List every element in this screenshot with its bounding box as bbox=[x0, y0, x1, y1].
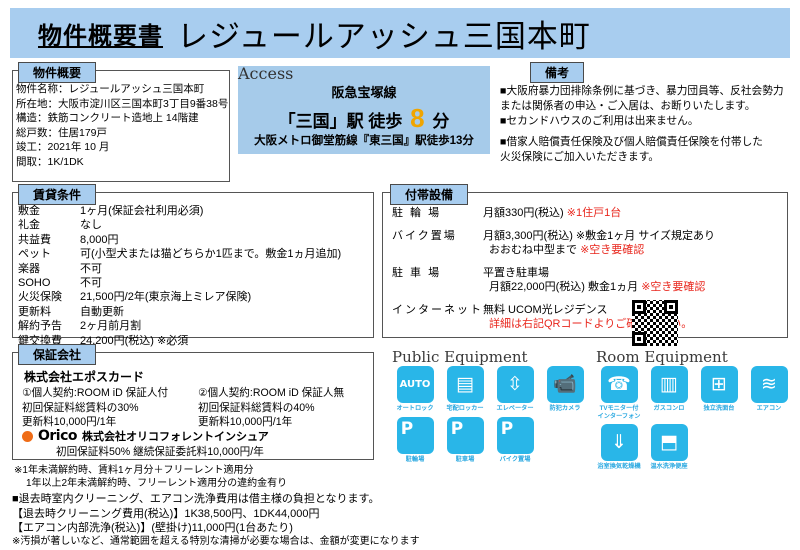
washstand-icon: ⊞ bbox=[701, 366, 738, 403]
facility-value: 無料 UCOM光レジデンス 詳細は右記QRコードよりご確認下さい。 bbox=[483, 303, 715, 340]
security-camera-icon-label: 防犯カメラ bbox=[550, 405, 581, 413]
facility-text: 無料 UCOM光レジデンス bbox=[483, 304, 607, 316]
access-minutes: 8 bbox=[407, 103, 427, 133]
air-conditioner-icon-glyph: ≋ bbox=[761, 375, 777, 394]
bicycle-parking-icon: P bbox=[397, 417, 434, 454]
access-minutes-unit: 分 bbox=[432, 112, 449, 131]
room-equipment-grid: ☎TVモニター付インターフォン▥ガスコンロ⊞独立洗面台≋エアコン⇓浴室換気乾燥機… bbox=[594, 366, 794, 475]
bike-parking-icon-cell: Pバイク置場 bbox=[490, 417, 540, 464]
rent-condition-key: 敷金 bbox=[18, 204, 80, 218]
auto-lock-icon: AUTO bbox=[397, 366, 434, 403]
footnote-2: 1年以上2年未満解約時、フリーレント適用分の違約金有り bbox=[26, 477, 287, 491]
orico-company-name: 株式会社オリコフォレントインシュア bbox=[82, 428, 269, 444]
public-equipment-grid: AUTOオートロック▤宅配ロッカー⇳エレベーター📹防犯カメラP駐輪場P駐車場Pバ… bbox=[390, 366, 590, 467]
rent-condition-row: ペット可(小型犬または猫どちらか1匹まで。敷金1ヵ月追加) bbox=[18, 247, 341, 261]
room-equipment-title: Room Equipment bbox=[596, 348, 728, 366]
header-label: 物件概要書 bbox=[38, 16, 163, 51]
facility-row: バイク置場月額3,300円(税込) ※敷金1ヶ月 サイズ規定あり おおむね中型ま… bbox=[392, 229, 715, 266]
air-conditioner-icon-label: エアコン bbox=[757, 405, 782, 413]
tv-intercom-icon: ☎ bbox=[601, 366, 638, 403]
elevator-icon: ⇳ bbox=[497, 366, 534, 403]
elevator-icon-label: エレベーター bbox=[496, 405, 533, 413]
rent-condition-value: 可(小型犬または猫どちらか1匹まで。敷金1ヵ月追加) bbox=[80, 247, 341, 261]
tv-intercom-icon-glyph: ☎ bbox=[607, 375, 631, 394]
rent-condition-value: なし bbox=[80, 218, 341, 232]
bike-parking-icon-label: バイク置場 bbox=[500, 456, 531, 464]
gas-stove-icon-cell: ▥ガスコンロ bbox=[644, 366, 694, 420]
rent-condition-key: ペット bbox=[18, 247, 80, 261]
auto-lock-icon-label: オートロック bbox=[396, 405, 433, 413]
rent-condition-row: 解約予告2ヶ月前月割 bbox=[18, 319, 341, 333]
bicycle-parking-icon-cell: P駐輪場 bbox=[390, 417, 440, 464]
facility-note-red: ※空き要確認 bbox=[580, 244, 644, 256]
guarantor-plan-2: ②個人契約:ROOM iD 保証人無初回保証料総賃料の40%更新料10,000円… bbox=[198, 386, 344, 430]
guarantor-plan-line: 初回保証料総賃料の30% bbox=[22, 401, 168, 416]
washlet-icon-label: 温水洗浄便座 bbox=[650, 463, 687, 471]
air-conditioner-icon: ≋ bbox=[751, 366, 788, 403]
page-title: レジュールアッシュ三国本町 bbox=[177, 11, 591, 56]
facility-value: 月額3,300円(税込) ※敷金1ヶ月 サイズ規定あり おおむね中型まで ※空き… bbox=[483, 229, 715, 266]
guarantor-plan-line: 初回保証料総賃料の40% bbox=[198, 401, 344, 416]
access-label: Access bbox=[238, 64, 293, 83]
rent-condition-value: 不可 bbox=[80, 262, 341, 276]
rent-conditions-table: 敷金1ヶ月(保証会社利用必須)礼金なし共益費8,000円ペット可(小型犬または猫… bbox=[18, 204, 341, 348]
cleaning-note-1: ■退去時室内クリーニング、エアコン洗浄費用は借主様の負担となります。 bbox=[12, 492, 379, 507]
rent-condition-value: 2ヶ月前月割 bbox=[80, 319, 341, 333]
property-summary-lines: 物件名称：レジュールアッシュ三国本町所在地：大阪市淀川区三国本町3丁目9番38号… bbox=[16, 82, 228, 170]
cleaning-note-3: 【エアコン内部洗浄(税込)】(壁掛け)11,000円(1台あたり) bbox=[12, 521, 293, 536]
rent-condition-row: 共益費8,000円 bbox=[18, 233, 341, 247]
gas-stove-icon: ▥ bbox=[651, 366, 688, 403]
auto-lock-icon-glyph: AUTO bbox=[400, 379, 431, 390]
orico-wordmark: Orico bbox=[38, 428, 77, 444]
elevator-icon-cell: ⇳エレベーター bbox=[490, 366, 540, 413]
rent-condition-key: 共益費 bbox=[18, 233, 80, 247]
access-line-name: 阪急宝塚線 bbox=[238, 82, 490, 101]
gas-stove-icon-label: ガスコンロ bbox=[654, 405, 685, 413]
rent-condition-key: 解約予告 bbox=[18, 319, 80, 333]
facility-key: バイク置場 bbox=[392, 229, 483, 266]
rent-condition-row: 敷金1ヶ月(保証会社利用必須) bbox=[18, 204, 341, 218]
facility-row: 駐 車 場平置き駐車場 月額22,000円(税込) 敷金1ヵ月 ※空き要確認 bbox=[392, 266, 715, 303]
facility-key: 駐 輪 場 bbox=[392, 206, 483, 229]
property-summary-line: 間取：1K/1DK bbox=[16, 155, 228, 170]
security-camera-icon: 📹 bbox=[547, 366, 584, 403]
rent-condition-row: 火災保険21,500円/2年(東京海上ミレア保険) bbox=[18, 290, 341, 304]
air-conditioner-icon-cell: ≋エアコン bbox=[744, 366, 794, 420]
security-camera-icon-glyph: 📹 bbox=[553, 375, 577, 394]
delivery-locker-icon: ▤ bbox=[447, 366, 484, 403]
delivery-locker-icon-label: 宅配ロッカー bbox=[446, 405, 483, 413]
orico-fee-line: 初回保証料50% 継続保証委託料10,000円/年 bbox=[56, 444, 264, 459]
access-station: 「三国」駅 徒歩 bbox=[279, 112, 403, 131]
bike-parking-icon-glyph: P bbox=[501, 419, 513, 439]
property-summary-line: 総戸数：住居179戸 bbox=[16, 126, 228, 141]
bath-dryer-icon-label: 浴室換気乾燥機 bbox=[597, 463, 640, 471]
facility-text: 月額3,300円(税込) ※敷金1ヶ月 サイズ規定あり bbox=[483, 230, 715, 242]
orico-row: Orico 株式会社オリコフォレントインシュア bbox=[22, 428, 269, 444]
cleaning-note-4: ※汚損が著しいなど、通常範囲を超える特別な清掃が必要な場合は、金額が変更になりま… bbox=[12, 535, 420, 550]
remarks-lines: ■大阪府暴力団排除条例に基づき、暴力団員等、反社会勢力または関係者の申込・ご入居… bbox=[500, 84, 784, 165]
facility-text: 月額330円(税込) bbox=[483, 207, 567, 219]
washlet-icon-cell: ⬒温水洗浄便座 bbox=[644, 424, 694, 471]
remarks-line: ■借家人賠償責任保険及び個人賠償責任保険を付帯した bbox=[500, 135, 784, 150]
remarks-line: または関係者の申込・ご入居は、お断りいたします。 bbox=[500, 99, 784, 114]
remarks-line: 火災保険にご加入いただきます。 bbox=[500, 150, 784, 165]
rent-condition-key: 楽器 bbox=[18, 262, 80, 276]
qr-code[interactable] bbox=[632, 300, 678, 346]
bicycle-parking-icon-glyph: P bbox=[401, 419, 413, 439]
guarantor-company-name: 株式会社エポスカード bbox=[24, 368, 144, 385]
car-parking-icon-glyph: P bbox=[451, 419, 463, 439]
rent-condition-value: 自動更新 bbox=[80, 305, 341, 319]
cleaning-note-2: 【退去時クリーニング費用(税込)】1K38,500円、1DK44,000円 bbox=[12, 507, 319, 522]
car-parking-icon-cell: P駐車場 bbox=[440, 417, 490, 464]
property-summary-line: 竣工：2021年 10 月 bbox=[16, 140, 228, 155]
elevator-icon-glyph: ⇳ bbox=[507, 375, 523, 394]
remarks-tab: 備考 bbox=[530, 62, 584, 83]
rent-condition-value: 1ヶ月(保証会社利用必須) bbox=[80, 204, 341, 218]
rent-condition-key: 礼金 bbox=[18, 218, 80, 232]
rent-condition-key: 更新料 bbox=[18, 305, 80, 319]
washstand-icon-label: 独立洗面台 bbox=[704, 405, 735, 413]
facility-text: おおむね中型まで bbox=[489, 244, 580, 256]
rent-condition-key: 火災保険 bbox=[18, 290, 80, 304]
facility-row: 駐 輪 場月額330円(税込) ※1住戸1台 bbox=[392, 206, 715, 229]
guarantor-plan-1: ①個人契約:ROOM iD 保証人付初回保証料総賃料の30%更新料10,000円… bbox=[22, 386, 168, 430]
delivery-locker-icon-cell: ▤宅配ロッカー bbox=[440, 366, 490, 413]
rent-condition-row: 楽器不可 bbox=[18, 262, 341, 276]
facility-key: インターネット bbox=[392, 303, 483, 340]
facility-note-red: ※1住戸1台 bbox=[567, 207, 621, 219]
remarks-line: ■大阪府暴力団排除条例に基づき、暴力団員等、反社会勢力 bbox=[500, 84, 784, 99]
page-header: 物件概要書 レジュールアッシュ三国本町 bbox=[10, 8, 790, 58]
orico-logo-icon bbox=[22, 431, 33, 442]
property-summary-tab: 物件概要 bbox=[18, 62, 96, 83]
car-parking-icon: P bbox=[447, 417, 484, 454]
bath-dryer-icon-cell: ⇓浴室換気乾燥機 bbox=[594, 424, 644, 471]
facilities-tab: 付帯設備 bbox=[390, 184, 468, 205]
rent-conditions-tab: 賃貸条件 bbox=[18, 184, 96, 205]
bicycle-parking-icon-label: 駐輪場 bbox=[406, 456, 425, 464]
access-sub-line: 大阪メトロ御堂筋線『東三国』駅徒歩13分 bbox=[238, 132, 490, 148]
remarks-line: ■セカンドハウスのご利用は出来ません。 bbox=[500, 114, 784, 129]
guarantor-tab: 保証会社 bbox=[18, 344, 96, 365]
property-summary-line: 物件名称：レジュールアッシュ三国本町 bbox=[16, 82, 228, 97]
bike-parking-icon: P bbox=[497, 417, 534, 454]
rent-condition-value: 24,200円(税込) ※必須 bbox=[80, 334, 341, 348]
auto-lock-icon-cell: AUTOオートロック bbox=[390, 366, 440, 413]
washstand-icon-cell: ⊞独立洗面台 bbox=[694, 366, 744, 420]
rent-condition-value: 8,000円 bbox=[80, 233, 341, 247]
washlet-icon: ⬒ bbox=[651, 424, 688, 461]
facility-note-red: ※空き要確認 bbox=[641, 281, 705, 293]
bath-dryer-icon-glyph: ⇓ bbox=[611, 433, 627, 452]
guarantor-plan-line: ①個人契約:ROOM iD 保証人付 bbox=[22, 386, 168, 401]
public-equipment-title: Public Equipment bbox=[392, 348, 528, 366]
tv-intercom-icon-label: TVモニター付インターフォン bbox=[598, 405, 641, 420]
property-summary-line: 構造：鉄筋コンクリート造地上 14階建 bbox=[16, 111, 228, 126]
bath-dryer-icon: ⇓ bbox=[601, 424, 638, 461]
access-walk-time: 「三国」駅 徒歩 8 分 bbox=[238, 103, 490, 134]
rent-condition-row: 礼金なし bbox=[18, 218, 341, 232]
security-camera-icon-cell: 📹防犯カメラ bbox=[540, 366, 590, 413]
facility-value: 平置き駐車場 月額22,000円(税込) 敷金1ヵ月 ※空き要確認 bbox=[483, 266, 715, 303]
facility-text: 月額22,000円(税込) 敷金1ヵ月 bbox=[489, 281, 641, 293]
rent-condition-value: 不可 bbox=[80, 276, 341, 290]
facility-key: 駐 車 場 bbox=[392, 266, 483, 303]
facility-value: 月額330円(税込) ※1住戸1台 bbox=[483, 206, 715, 229]
rent-condition-value: 21,500円/2年(東京海上ミレア保険) bbox=[80, 290, 341, 304]
property-summary-line: 所在地：大阪市淀川区三国本町3丁目9番38号 bbox=[16, 97, 228, 112]
rent-condition-row: SOHO不可 bbox=[18, 276, 341, 290]
rent-condition-key: SOHO bbox=[18, 276, 80, 290]
guarantor-plan-line: ②個人契約:ROOM iD 保証人無 bbox=[198, 386, 344, 401]
washstand-icon-glyph: ⊞ bbox=[711, 375, 727, 394]
car-parking-icon-label: 駐車場 bbox=[456, 456, 475, 464]
gas-stove-icon-glyph: ▥ bbox=[660, 375, 678, 394]
facility-text: 平置き駐車場 bbox=[483, 267, 549, 279]
washlet-icon-glyph: ⬒ bbox=[660, 433, 678, 452]
delivery-locker-icon-glyph: ▤ bbox=[456, 375, 474, 394]
tv-intercom-icon-cell: ☎TVモニター付インターフォン bbox=[594, 366, 644, 420]
rent-condition-row: 更新料自動更新 bbox=[18, 305, 341, 319]
footnote-1: ※1年未満解約時、賃料1ヶ月分＋フリーレント適用分 bbox=[14, 464, 254, 478]
